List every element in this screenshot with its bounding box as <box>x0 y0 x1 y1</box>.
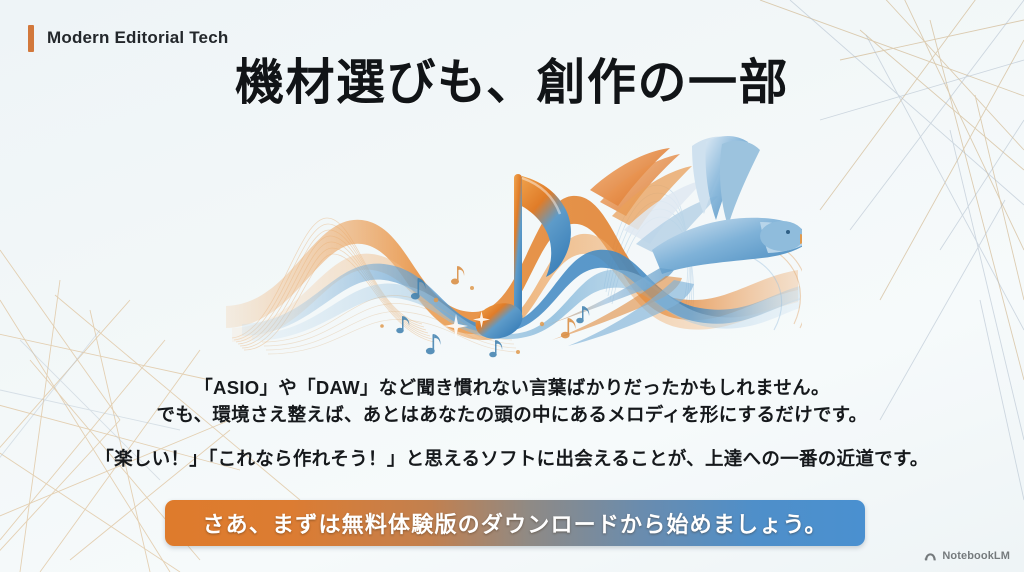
body-paragraph-2: 「楽しい！」「これなら作れそう！」と思えるソフトに出会えることが、上達への一番の… <box>0 445 1024 472</box>
accent-bar <box>28 25 34 52</box>
body-line: 「楽しい！」「これなら作れそう！」と思えるソフトに出会えることが、上達への一番の… <box>0 445 1024 472</box>
cta-banner[interactable]: さあ、まずは無料体験版のダウンロードから始めましょう。 <box>165 500 865 546</box>
music-wave-bird-illustration <box>222 128 802 360</box>
notebooklm-watermark: NotebookLM <box>924 550 1010 562</box>
slide-canvas: Modern Editorial Tech 機材選びも、創作の一部 <box>0 0 1024 572</box>
cta-label: さあ、まずは無料体験版のダウンロードから始めましょう。 <box>202 507 827 539</box>
header-label: Modern Editorial Tech <box>47 28 228 48</box>
notebooklm-icon <box>924 550 937 562</box>
body-line: 「ASIO」や「DAW」など聞き慣れない言葉ばかりだったかもしれません。 <box>0 374 1024 401</box>
body-line: でも、環境さえ整えば、あとはあなたの頭の中にあるメロディを形にするだけです。 <box>0 401 1024 428</box>
body-copy: 「ASIO」や「DAW」など聞き慣れない言葉ばかりだったかもしれません。 でも、… <box>0 374 1024 472</box>
body-paragraph-1: 「ASIO」や「DAW」など聞き慣れない言葉ばかりだったかもしれません。 でも、… <box>0 374 1024 428</box>
page-title: 機材選びも、創作の一部 <box>0 57 1024 110</box>
slide-header: Modern Editorial Tech <box>28 22 228 54</box>
notebooklm-label: NotebookLM <box>942 550 1010 562</box>
